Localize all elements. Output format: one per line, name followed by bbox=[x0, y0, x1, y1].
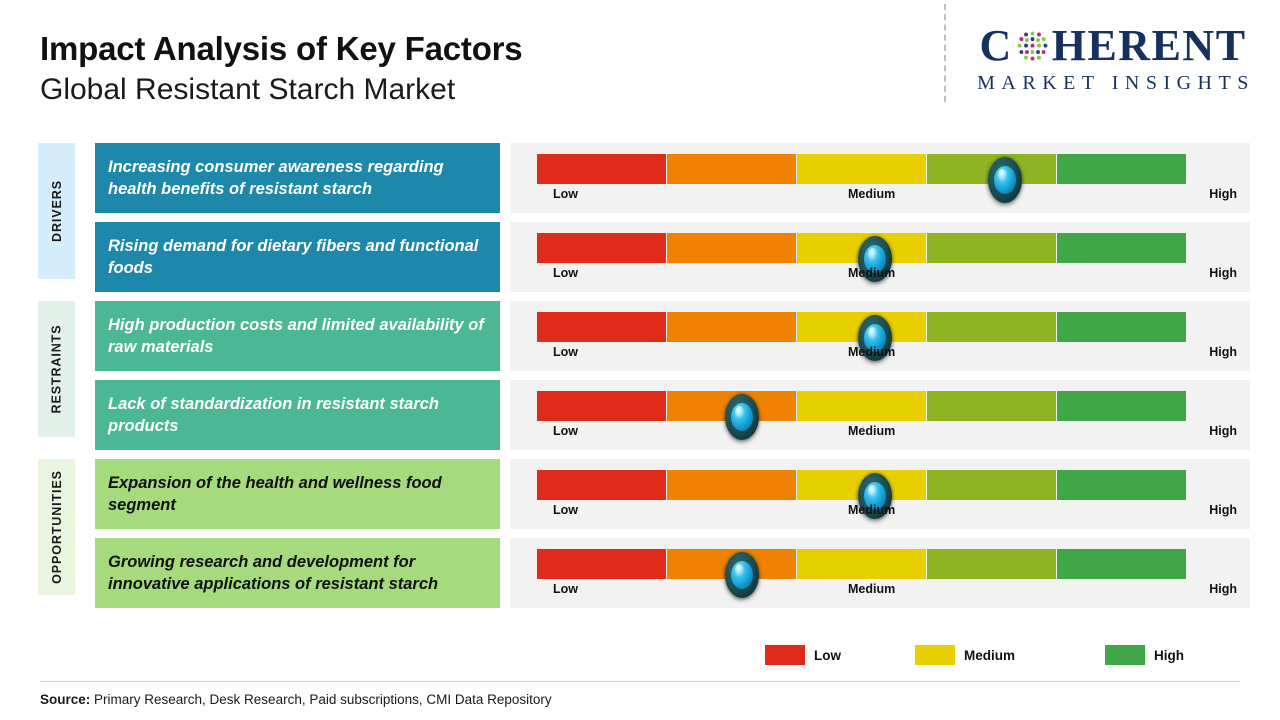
scale-label-high: High bbox=[1209, 424, 1237, 438]
globe-dot-sphere-icon bbox=[1014, 28, 1051, 65]
factor-text: Expansion of the health and wellness foo… bbox=[108, 472, 493, 517]
logo-divider bbox=[944, 4, 946, 102]
factor-text: Growing research and development for inn… bbox=[108, 551, 493, 596]
gauge-segment-low bbox=[537, 154, 667, 184]
scale-label-low: Low bbox=[553, 187, 578, 201]
gauge-segment-high bbox=[1057, 154, 1187, 184]
logo-word-after: HERENT bbox=[1052, 21, 1247, 70]
source-value: Primary Research, Desk Research, Paid su… bbox=[90, 692, 551, 707]
scale-label-medium: Medium bbox=[848, 503, 895, 517]
gauge-segment-high bbox=[1057, 312, 1187, 342]
gauge-track bbox=[537, 154, 1187, 184]
footer-divider bbox=[40, 681, 1240, 682]
legend-swatch-medium bbox=[915, 645, 955, 665]
gauge-panel: Low Medium High bbox=[510, 459, 1250, 529]
gauge-segment-high bbox=[1057, 470, 1187, 500]
scale-label-medium: Medium bbox=[848, 187, 895, 201]
scale-label-medium: Medium bbox=[848, 424, 895, 438]
factor-card[interactable]: Rising demand for dietary fibers and fun… bbox=[95, 222, 500, 292]
scale-label-low: Low bbox=[553, 424, 578, 438]
legend-item-high: High bbox=[1105, 645, 1184, 665]
scale-label-low: Low bbox=[553, 582, 578, 596]
title-block: Impact Analysis of Key Factors Global Re… bbox=[40, 30, 522, 108]
logo-wordmark: C bbox=[963, 24, 1263, 68]
scale-label-low: Low bbox=[553, 503, 578, 517]
gauge-segment-low bbox=[537, 391, 667, 421]
page-title: Impact Analysis of Key Factors bbox=[40, 30, 522, 68]
gauge-segment-low-medium bbox=[667, 233, 797, 263]
gauge-panel: Low Medium High bbox=[510, 143, 1250, 213]
factor-card[interactable]: Growing research and development for inn… bbox=[95, 538, 500, 608]
factor-text: Rising demand for dietary fibers and fun… bbox=[108, 235, 493, 280]
scale-label-high: High bbox=[1209, 582, 1237, 596]
header: Impact Analysis of Key Factors Global Re… bbox=[0, 0, 1280, 132]
legend-item-medium: Medium bbox=[915, 645, 1015, 665]
gauge-segment-high bbox=[1057, 233, 1187, 263]
legend: Low Medium High bbox=[765, 645, 1235, 669]
gauge-segment-medium-high bbox=[927, 549, 1057, 579]
matrix-row: Expansion of the health and wellness foo… bbox=[0, 459, 1280, 529]
gauge-segment-low bbox=[537, 470, 667, 500]
factor-card[interactable]: Increasing consumer awareness regarding … bbox=[95, 143, 500, 213]
gauge-segment-high bbox=[1057, 391, 1187, 421]
gauge-panel: Low Medium High bbox=[510, 380, 1250, 450]
scale-label-medium: Medium bbox=[848, 345, 895, 359]
factor-text: Lack of standardization in resistant sta… bbox=[108, 393, 493, 438]
gauge-panel: Low Medium High bbox=[510, 538, 1250, 608]
factor-text: Increasing consumer awareness regarding … bbox=[108, 156, 493, 201]
gauge-scale-labels: Low Medium High bbox=[537, 266, 1255, 286]
gauge-segment-low-medium bbox=[667, 154, 797, 184]
scale-label-high: High bbox=[1209, 187, 1237, 201]
gauge-scale-labels: Low Medium High bbox=[537, 503, 1255, 523]
factor-card[interactable]: Lack of standardization in resistant sta… bbox=[95, 380, 500, 450]
source-label: Source: bbox=[40, 692, 90, 707]
legend-label-low: Low bbox=[814, 648, 841, 663]
gauge-track bbox=[537, 549, 1187, 579]
legend-swatch-high bbox=[1105, 645, 1145, 665]
factor-card[interactable]: High production costs and limited availa… bbox=[95, 301, 500, 371]
gauge-track bbox=[537, 470, 1187, 500]
gauge-scale-labels: Low Medium High bbox=[537, 345, 1255, 365]
gauge-scale-labels: Low Medium High bbox=[537, 187, 1255, 207]
factor-card[interactable]: Expansion of the health and wellness foo… bbox=[95, 459, 500, 529]
matrix-row: High production costs and limited availa… bbox=[0, 301, 1280, 371]
logo-tagline: MARKET INSIGHTS bbox=[963, 72, 1263, 95]
slide-canvas: Impact Analysis of Key Factors Global Re… bbox=[0, 0, 1280, 720]
scale-label-high: High bbox=[1209, 503, 1237, 517]
gauge-track bbox=[537, 391, 1187, 421]
gauge-segment-low bbox=[537, 233, 667, 263]
gauge-segment-medium bbox=[797, 154, 927, 184]
legend-label-medium: Medium bbox=[964, 648, 1015, 663]
gauge-segment-medium bbox=[797, 391, 927, 421]
gauge-segment-medium-high bbox=[927, 312, 1057, 342]
legend-label-high: High bbox=[1154, 648, 1184, 663]
scale-label-medium: Medium bbox=[848, 582, 895, 596]
scale-label-low: Low bbox=[553, 345, 578, 359]
gauge-track bbox=[537, 233, 1187, 263]
matrix-row: Lack of standardization in resistant sta… bbox=[0, 380, 1280, 450]
legend-item-low: Low bbox=[765, 645, 841, 665]
scale-label-low: Low bbox=[553, 266, 578, 280]
factor-text: High production costs and limited availa… bbox=[108, 314, 493, 359]
matrix-row: Increasing consumer awareness regarding … bbox=[0, 143, 1280, 213]
gauge-scale-labels: Low Medium High bbox=[537, 424, 1255, 444]
logo-word-before: C bbox=[979, 21, 1012, 70]
gauge-scale-labels: Low Medium High bbox=[537, 582, 1255, 602]
gauge-segment-low-medium bbox=[667, 312, 797, 342]
gauge-segment-medium-high bbox=[927, 233, 1057, 263]
gauge-track bbox=[537, 312, 1187, 342]
matrix-row: Rising demand for dietary fibers and fun… bbox=[0, 222, 1280, 292]
gauge-segment-low bbox=[537, 549, 667, 579]
gauge-panel: Low Medium High bbox=[510, 222, 1250, 292]
gauge-segment-medium-high bbox=[927, 391, 1057, 421]
page-subtitle: Global Resistant Starch Market bbox=[40, 71, 522, 109]
matrix-row: Growing research and development for inn… bbox=[0, 538, 1280, 608]
gauge-segment-medium bbox=[797, 549, 927, 579]
scale-label-high: High bbox=[1209, 266, 1237, 280]
gauge-segment-high bbox=[1057, 549, 1187, 579]
gauge-panel: Low Medium High bbox=[510, 301, 1250, 371]
brand-logo: C bbox=[963, 24, 1263, 95]
gauge-segment-medium-high bbox=[927, 470, 1057, 500]
scale-label-medium: Medium bbox=[848, 266, 895, 280]
gauge-segment-low bbox=[537, 312, 667, 342]
scale-label-high: High bbox=[1209, 345, 1237, 359]
source-line: Source: Primary Research, Desk Research,… bbox=[40, 692, 552, 707]
legend-swatch-low bbox=[765, 645, 805, 665]
gauge-segment-low-medium bbox=[667, 470, 797, 500]
